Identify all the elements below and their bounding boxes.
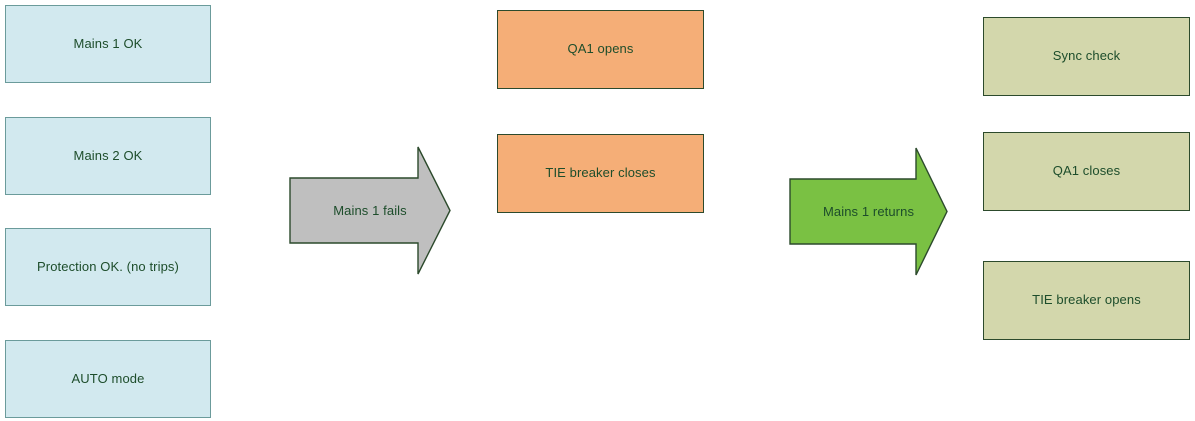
node-label: AUTO mode	[72, 371, 145, 387]
node-label: Mains 2 OK	[74, 148, 143, 164]
arrow-shape-icon	[289, 146, 451, 275]
node-label: TIE breaker closes	[545, 165, 655, 181]
node-mains-1-ok[interactable]: Mains 1 OK	[5, 5, 211, 83]
arrow-mains-1-returns[interactable]: Mains 1 returns	[789, 147, 948, 276]
node-label: Mains 1 OK	[74, 36, 143, 52]
node-label: Sync check	[1053, 48, 1120, 64]
node-label: TIE breaker opens	[1032, 292, 1141, 308]
node-sync-check[interactable]: Sync check	[983, 17, 1190, 96]
node-label: Protection OK. (no trips)	[37, 259, 179, 275]
node-tie-breaker-opens[interactable]: TIE breaker opens	[983, 261, 1190, 340]
arrow-mains-1-fails[interactable]: Mains 1 fails	[289, 146, 451, 275]
arrow-shape-icon	[789, 147, 948, 276]
diagram-canvas: Mains 1 OK Mains 2 OK Protection OK. (no…	[0, 0, 1195, 421]
node-qa1-closes[interactable]: QA1 closes	[983, 132, 1190, 211]
node-label: QA1 opens	[568, 41, 634, 57]
node-label: QA1 closes	[1053, 163, 1120, 179]
node-qa1-opens[interactable]: QA1 opens	[497, 10, 704, 89]
node-tie-breaker-closes[interactable]: TIE breaker closes	[497, 134, 704, 213]
node-protection-ok[interactable]: Protection OK. (no trips)	[5, 228, 211, 306]
node-auto-mode[interactable]: AUTO mode	[5, 340, 211, 418]
node-mains-2-ok[interactable]: Mains 2 OK	[5, 117, 211, 195]
